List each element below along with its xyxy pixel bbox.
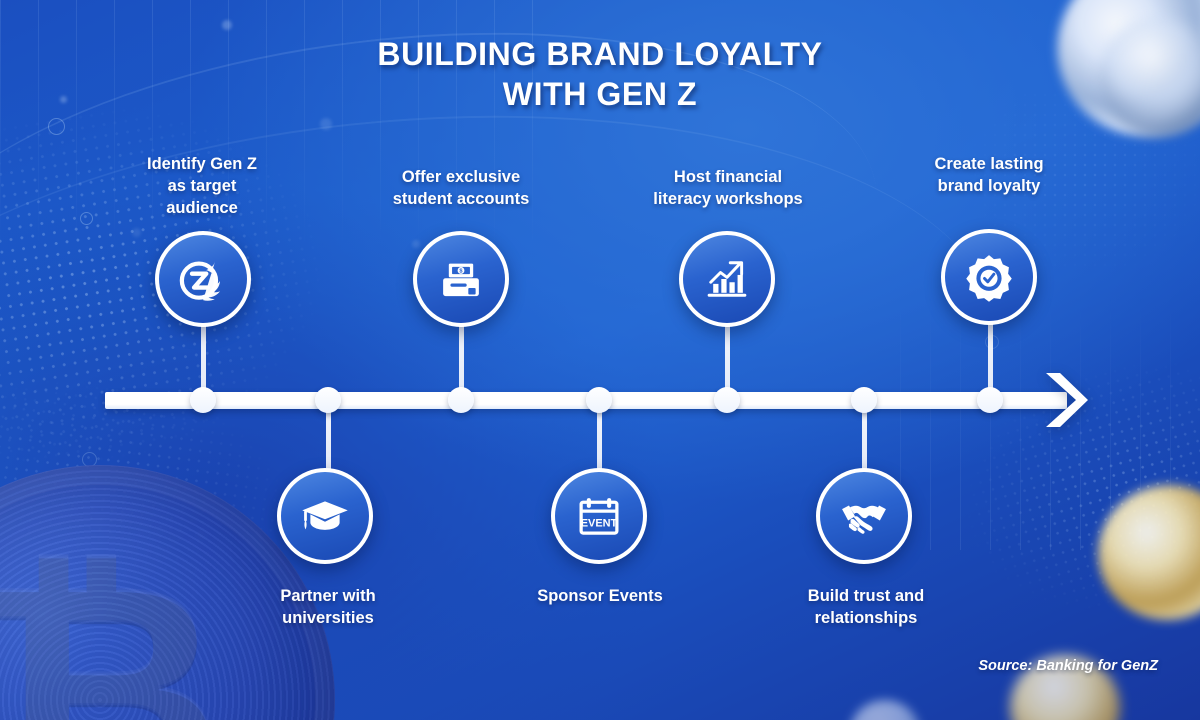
step-icon-brand-loyalty[interactable] — [941, 229, 1037, 325]
dot-wave-pattern-lower-left — [0, 300, 508, 691]
step-label-sponsor-events: Sponsor Events — [505, 586, 695, 608]
timeline-node[interactable] — [714, 387, 740, 413]
step-icon-sponsor-events[interactable]: EVENT — [551, 468, 647, 564]
wallet-money-icon: $ — [435, 253, 487, 305]
title-line-2: WITH GEN Z — [0, 74, 1200, 114]
step-label-identify-gen-z: Identify Gen Z as target audience — [108, 154, 296, 219]
bokeh-ring-icon — [48, 118, 65, 135]
timeline-node[interactable] — [315, 387, 341, 413]
gen-z-flame-icon — [177, 253, 229, 305]
step-icon-student-accounts[interactable]: $ — [413, 231, 509, 327]
timeline-node[interactable] — [586, 387, 612, 413]
growth-bar-chart-icon — [701, 253, 753, 305]
step-icon-build-trust[interactable] — [816, 468, 912, 564]
bokeh-dot-icon — [196, 530, 206, 540]
step-icon-partner-universities[interactable] — [277, 468, 373, 564]
bokeh-dot-icon — [132, 228, 141, 237]
step-icon-identify-gen-z[interactable] — [155, 231, 251, 327]
bokeh-dot-icon — [320, 118, 332, 130]
calendar-event-text: EVENT — [581, 518, 618, 530]
bokeh-ring-icon — [80, 212, 93, 225]
infographic-canvas: BUILDING BRAND LOYALTY WITH GEN Z Identi… — [0, 0, 1200, 720]
step-label-student-accounts: Offer exclusive student accounts — [365, 167, 557, 211]
graduation-cap-icon — [299, 490, 351, 542]
timeline-node[interactable] — [851, 387, 877, 413]
step-label-brand-loyalty: Create lasting brand loyalty — [894, 154, 1084, 198]
bokeh-dot-icon — [222, 20, 232, 30]
verified-badge-icon — [963, 251, 1015, 303]
timeline-node[interactable] — [190, 387, 216, 413]
step-label-financial-literacy: Host financial literacy workshops — [628, 167, 828, 211]
step-label-partner-universities: Partner with universities — [234, 586, 422, 630]
timeline-node[interactable] — [448, 387, 474, 413]
title-line-1: BUILDING BRAND LOYALTY — [377, 36, 822, 72]
page-title: BUILDING BRAND LOYALTY WITH GEN Z — [0, 34, 1200, 114]
source-credit: Source: Banking for GenZ — [978, 658, 1158, 674]
step-icon-financial-literacy[interactable] — [679, 231, 775, 327]
bokeh-ring-icon — [82, 452, 97, 467]
timeline-arrow-icon — [1042, 369, 1088, 431]
gold-coin-graphic — [1085, 472, 1200, 633]
timeline-node[interactable] — [977, 387, 1003, 413]
small-coin-graphic — [850, 700, 920, 720]
handshake-icon — [838, 490, 890, 542]
bokeh-dot-icon — [412, 240, 420, 248]
calendar-event-icon: EVENT — [573, 490, 625, 542]
step-label-build-trust: Build trust and relationships — [770, 586, 962, 630]
